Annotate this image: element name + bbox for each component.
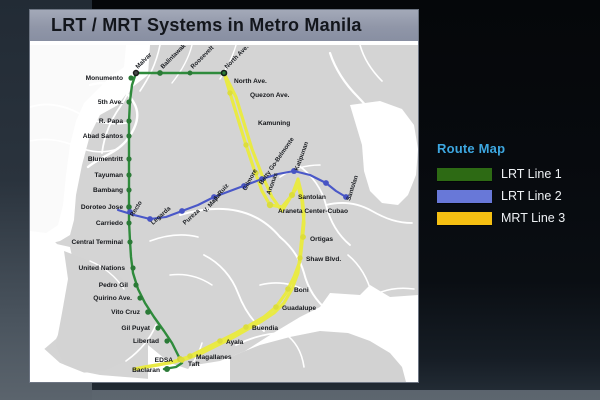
station-label: Santolan — [298, 194, 326, 201]
station-label: Taft — [188, 361, 200, 368]
legend-item-label: LRT Line 1 — [501, 167, 562, 181]
legend-item-mrt-line-3[interactable]: MRT Line 3 — [437, 209, 587, 227]
station-label: Libertad — [133, 338, 159, 345]
station-label: Blumentritt — [88, 156, 124, 163]
legend-item-label: LRT Line 2 — [501, 189, 562, 203]
legend-item-label: MRT Line 3 — [501, 211, 565, 225]
station-label: Carriedo — [96, 220, 123, 227]
station-label: Shaw Blvd. — [306, 256, 341, 263]
station-label: Araneta Center-Cubao — [278, 208, 348, 215]
map-panel: LRT / MRT Systems in Metro Manila — [30, 10, 418, 382]
station-label: Buendia — [252, 325, 278, 332]
station-label: Quezon Ave. — [250, 92, 290, 99]
screenshot-root: LRT / MRT Systems in Metro Manila — [0, 0, 600, 400]
map-title-bar: LRT / MRT Systems in Metro Manila — [30, 10, 418, 43]
station-label: Doroteo Jose — [81, 204, 123, 211]
station-label: Baclaran — [132, 367, 160, 374]
legend-title: Route Map — [437, 141, 587, 156]
lrt-line-2-swatch-icon — [437, 190, 492, 203]
route-map-legend: Route Map LRT Line 1 LRT Line 2 MRT Line… — [437, 141, 587, 231]
station-label: Ayala — [226, 339, 244, 346]
station-label: Guadalupe — [282, 305, 316, 312]
station-label: Bambang — [93, 187, 123, 194]
station-label: Tayuman — [95, 172, 123, 179]
station-label: Kamuning — [258, 120, 290, 127]
lrt-line-1-swatch-icon — [437, 168, 492, 181]
map-canvas[interactable]: Malvar Balintawak Roosevelt North Ave. M… — [30, 45, 418, 382]
station-label: Ortigas — [310, 236, 333, 243]
station-label: Magallanes — [196, 354, 232, 361]
map-graphic: Malvar Balintawak Roosevelt North Ave. M… — [30, 45, 418, 382]
station-label: EDSA — [155, 357, 174, 364]
legend-item-lrt-line-2[interactable]: LRT Line 2 — [437, 187, 587, 205]
page-title: LRT / MRT Systems in Metro Manila — [30, 15, 362, 36]
station-label: 5th Ave. — [98, 99, 123, 106]
station-label: Vito Cruz — [111, 309, 141, 316]
station-label: Abad Santos — [83, 133, 124, 140]
station-label: Quirino Ave. — [93, 295, 132, 302]
station-label: Boni — [294, 287, 309, 294]
station-label: Gil Puyat — [121, 325, 150, 332]
legend-item-lrt-line-1[interactable]: LRT Line 1 — [437, 165, 587, 183]
station-label: North Ave. — [234, 78, 267, 85]
mrt-line-3-swatch-icon — [437, 212, 492, 225]
station-label: R. Papa — [99, 118, 124, 125]
station-label: Pedro Gil — [99, 282, 128, 289]
station-label: Central Terminal — [71, 239, 123, 246]
station-label: United Nations — [78, 265, 125, 272]
station-label: Monumento — [86, 75, 123, 82]
